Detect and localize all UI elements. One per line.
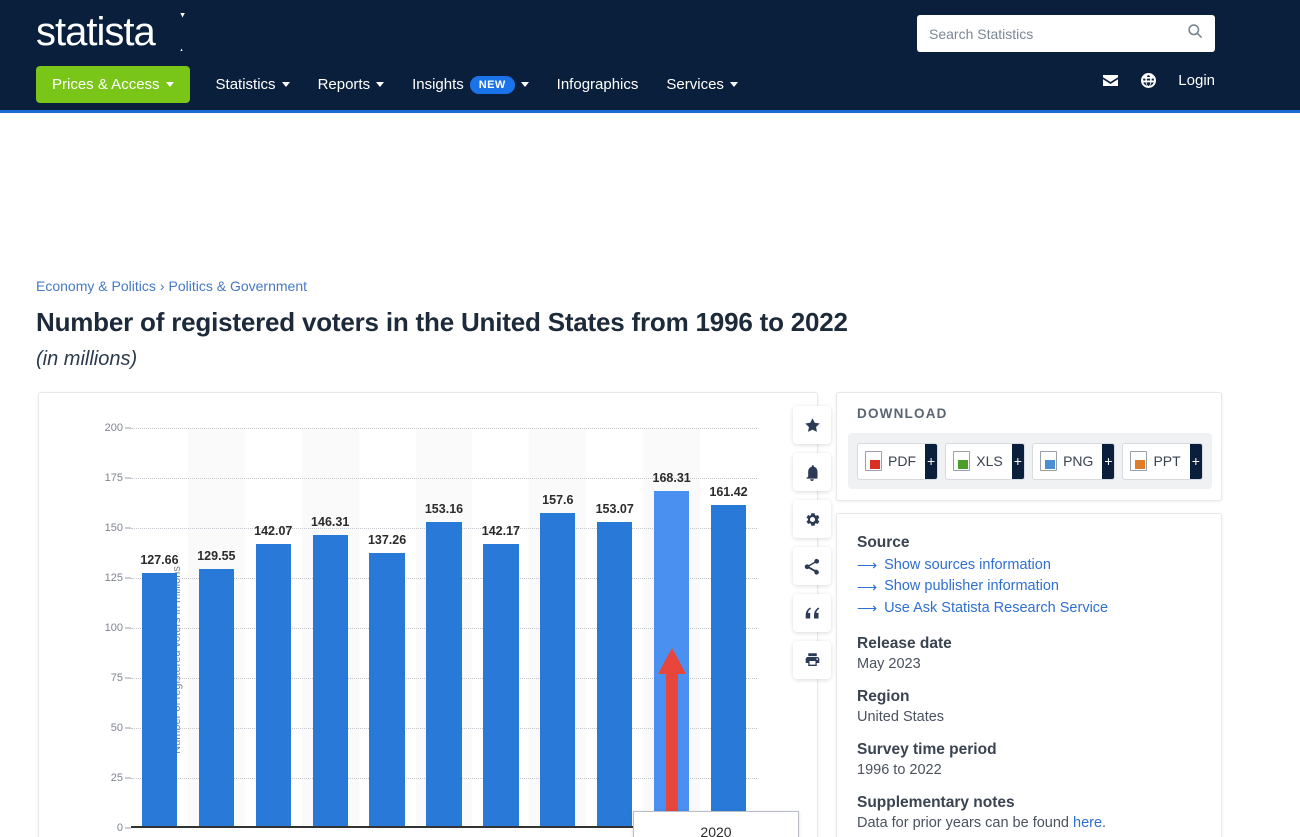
download-button-label: PNG [1063,453,1093,469]
bar-1996[interactable] [142,573,177,828]
download-button-label-wrap: XLS [946,451,1011,471]
source-links: ⟶Show sources information⟶Show publisher… [857,555,1201,619]
source-link-3[interactable]: ⟶Use Ask Statista Research Service [857,598,1201,619]
region-heading: Region [857,688,1201,706]
nav-item-label: Prices & Access [52,76,160,93]
y-axis-tick-label: 175 [39,472,123,484]
source-link-label: Use Ask Statista Research Service [884,598,1108,619]
nav-item-label: Insights [412,76,464,93]
xls-file-icon [953,451,970,471]
bar-2008[interactable] [313,535,348,828]
y-axis-tick-label: 0 [39,822,123,834]
search-box[interactable] [917,15,1215,52]
y-axis-tick-mark [125,478,131,479]
release-date-value: May 2023 [857,656,1201,672]
y-axis-tick-mark [125,528,131,529]
bar-2000[interactable] [199,569,234,828]
bar-2012[interactable] [426,522,461,828]
download-xls-button[interactable]: XLS+ [945,443,1025,480]
page-subtitle: (in millions) [36,348,137,371]
y-axis-tick-mark [125,428,131,429]
tooltip-title: 2020 [634,812,798,837]
site-header: statista Prices & AccessStatisticsReport… [0,0,1300,113]
download-button-label-wrap: PPT [1123,451,1189,471]
download-plus-button[interactable]: + [925,444,937,479]
nav-item-prices-access[interactable]: Prices & Access [36,66,190,103]
download-button-label: PDF [888,453,916,469]
chevron-down-icon [730,82,738,87]
nav-item-insights[interactable]: InsightsNEW [398,67,543,103]
download-buttons: PDF+XLS+PNG+PPT+ [848,433,1212,489]
main-navigation: Prices & AccessStatisticsReportsInsights… [36,66,752,103]
nav-item-statistics[interactable]: Statistics [202,67,304,102]
notes-prefix: Data for prior years can be found [857,815,1073,831]
favorite-star-icon[interactable] [793,406,831,444]
source-link-1[interactable]: ⟶Show sources information [857,555,1201,576]
supplementary-notes-heading: Supplementary notes [857,794,1201,812]
nav-item-infographics[interactable]: Infographics [543,67,653,102]
chevron-down-icon [376,82,384,87]
notes-suffix: . [1102,815,1106,831]
bar-value-label-2018: 153.07 [586,502,643,516]
bar-value-label-2008: 146.31 [302,515,359,529]
supplementary-notes-group: Supplementary notes Data for prior years… [857,794,1201,831]
bar-2010[interactable] [369,553,404,828]
download-plus-button[interactable]: + [1102,444,1114,479]
nav-item-label: Reports [318,76,371,93]
chart-tooltip: 2020 168.31 [633,811,799,837]
download-button-label: XLS [976,453,1002,469]
bar-2014[interactable] [483,544,518,828]
y-axis-tick-mark [125,628,131,629]
search-icon[interactable] [1187,23,1203,44]
source-heading: Source [857,534,1201,552]
bar-value-label-1996: 127.66 [131,553,188,567]
y-axis-tick-mark [125,778,131,779]
download-card: DOWNLOAD PDF+XLS+PNG+PPT+ [836,392,1222,501]
bar-value-label-2022: 161.42 [700,485,757,499]
bar-2004[interactable] [256,544,291,828]
envelope-icon[interactable] [1102,74,1119,87]
arrow-right-icon: ⟶ [857,555,877,576]
bar-2018[interactable] [597,522,632,828]
notes-here-link[interactable]: here [1073,815,1102,831]
source-link-label: Show publisher information [884,576,1059,597]
y-axis-tick-label: 125 [39,572,123,584]
y-axis-tick-mark [125,828,131,829]
nav-item-services[interactable]: Services [652,67,752,102]
chart-toolstrip [793,406,831,679]
bar-2016[interactable] [540,513,575,828]
bar-value-label-2020: 168.31 [643,471,700,485]
bar-2022[interactable] [711,505,746,828]
nav-item-label: Services [666,76,724,93]
download-pdf-button[interactable]: PDF+ [857,443,938,480]
ppt-file-icon [1130,451,1147,471]
bell-icon[interactable] [793,453,831,491]
nav-item-label: Infographics [557,76,639,93]
download-plus-button[interactable]: + [1012,444,1024,479]
png-file-icon [1040,451,1057,471]
page-title: Number of registered voters in the Unite… [36,307,848,338]
bar-value-label-2004: 142.07 [245,524,302,538]
y-axis-tick-mark [125,728,131,729]
y-axis-tick-label: 150 [39,522,123,534]
nav-item-label: Statistics [216,76,276,93]
info-card: Source ⟶Show sources information⟶Show pu… [836,513,1222,837]
bar-value-label-2012: 153.16 [416,502,473,516]
survey-period-group: Survey time period 1996 to 2022 [857,741,1201,778]
release-date-group: Release date May 2023 [857,635,1201,672]
chevron-down-icon [166,82,174,87]
supplementary-notes-value: Data for prior years can be found here. [857,815,1201,831]
download-button-label-wrap: PDF [858,451,925,471]
header-right-actions: Login [1102,72,1215,89]
y-axis-tick-label: 200 [39,422,123,434]
chevron-down-icon [521,82,529,87]
breadcrumb-separator: › [160,278,165,294]
region-group: Region United States [857,688,1201,725]
gridline [131,428,757,429]
y-axis-tick-label: 100 [39,622,123,634]
breadcrumb: Economy & Politics›Politics & Government [36,278,307,294]
quote-icon[interactable] [793,594,831,632]
region-value: United States [857,709,1201,725]
source-link-2[interactable]: ⟶Show publisher information [857,576,1201,597]
breadcrumb-item-1[interactable]: Economy & Politics [36,278,156,294]
download-png-button[interactable]: PNG+ [1032,443,1115,480]
login-link[interactable]: Login [1178,72,1215,89]
release-date-heading: Release date [857,635,1201,653]
share-icon[interactable] [793,547,831,585]
search-input[interactable] [929,26,1187,42]
survey-period-value: 1996 to 2022 [857,762,1201,778]
chart-plot-area: 127.66129.55142.07146.31137.26153.16142.… [131,428,757,828]
bar-value-label-2000: 129.55 [188,549,245,563]
source-group: Source ⟶Show sources information⟶Show pu… [857,534,1201,619]
pdf-file-icon [865,451,882,471]
download-title: DOWNLOAD [857,406,948,421]
download-button-label: PPT [1153,453,1180,469]
logo-text: statista [36,12,155,52]
download-plus-button[interactable]: + [1190,444,1202,479]
breadcrumb-item-2[interactable]: Politics & Government [169,278,308,294]
chevron-down-icon [282,82,290,87]
y-axis-tick-mark [125,678,131,679]
survey-period-heading: Survey time period [857,741,1201,759]
y-axis-tick-label: 75 [39,672,123,684]
y-axis-tick-mark [125,578,131,579]
statista-logo-mark-icon [161,13,201,51]
bar-value-label-2010: 137.26 [359,533,416,547]
chart-card: Number of registered voters in millions … [38,392,818,837]
statista-logo[interactable]: statista [36,12,201,52]
source-link-label: Show sources information [884,555,1051,576]
arrow-right-icon: ⟶ [857,598,877,619]
arrow-right-icon: ⟶ [857,577,877,598]
globe-icon[interactable] [1141,73,1156,88]
gear-icon[interactable] [793,500,831,538]
print-icon[interactable] [793,641,831,679]
nav-item-reports[interactable]: Reports [304,67,399,102]
download-button-label-wrap: PNG [1033,451,1102,471]
nav-badge-new: NEW [470,76,515,94]
download-ppt-button[interactable]: PPT+ [1122,443,1203,480]
y-axis-tick-label: 25 [39,772,123,784]
y-axis-tick-label: 50 [39,722,123,734]
bar-value-label-2014: 142.17 [472,524,529,538]
bar-value-label-2016: 157.6 [529,493,586,507]
